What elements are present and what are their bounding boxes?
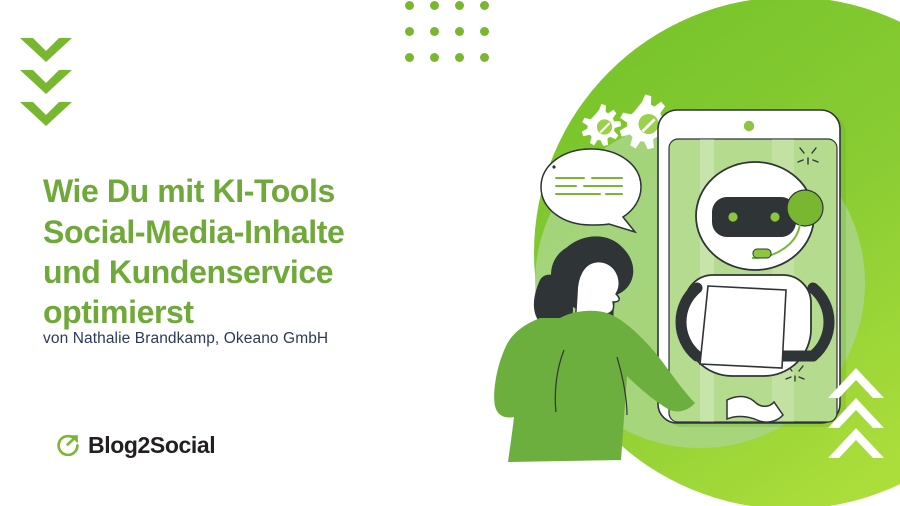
dot	[480, 53, 489, 62]
dot-grid	[397, 0, 497, 70]
byline: von Nathalie Brandkamp, Okeano GmbH	[43, 330, 328, 348]
woman-figure	[494, 236, 695, 462]
dot	[480, 1, 489, 10]
dot	[430, 1, 439, 10]
gear-icon-small	[582, 104, 621, 146]
phone-device	[648, 110, 846, 427]
dot	[405, 53, 414, 62]
brand-name: Blog2Social	[88, 434, 215, 457]
dot	[480, 27, 489, 36]
sparkle-icon-bottom	[786, 366, 804, 381]
dot	[405, 27, 414, 36]
brand-logo[interactable]: Blog2Social	[55, 432, 215, 458]
robot-head	[648, 162, 823, 270]
page-title: Wie Du mit KI-Tools Social-Media-Inhalte…	[43, 171, 473, 332]
chevron-up-group	[828, 368, 884, 458]
dot	[430, 27, 439, 36]
dot	[405, 1, 414, 10]
dot	[455, 1, 464, 10]
dot	[455, 53, 464, 62]
dot	[430, 53, 439, 62]
sparkle-icon-top	[798, 148, 818, 164]
speech-bubble	[541, 149, 641, 232]
slide-canvas: Wie Du mit KI-Tools Social-Media-Inhalte…	[0, 0, 900, 506]
inner-circle	[535, 118, 865, 448]
dot	[455, 27, 464, 36]
chevron-down-icon-2	[20, 70, 72, 94]
gear-icon-large	[620, 94, 671, 149]
circular-arrow-icon	[55, 432, 81, 458]
background-blob	[534, 0, 900, 506]
robot-body	[681, 275, 829, 376]
chevron-down-icon-1	[20, 38, 72, 62]
hand-pointer	[727, 396, 783, 422]
chevron-down-group	[20, 38, 72, 134]
chevron-down-icon-3	[20, 102, 72, 126]
